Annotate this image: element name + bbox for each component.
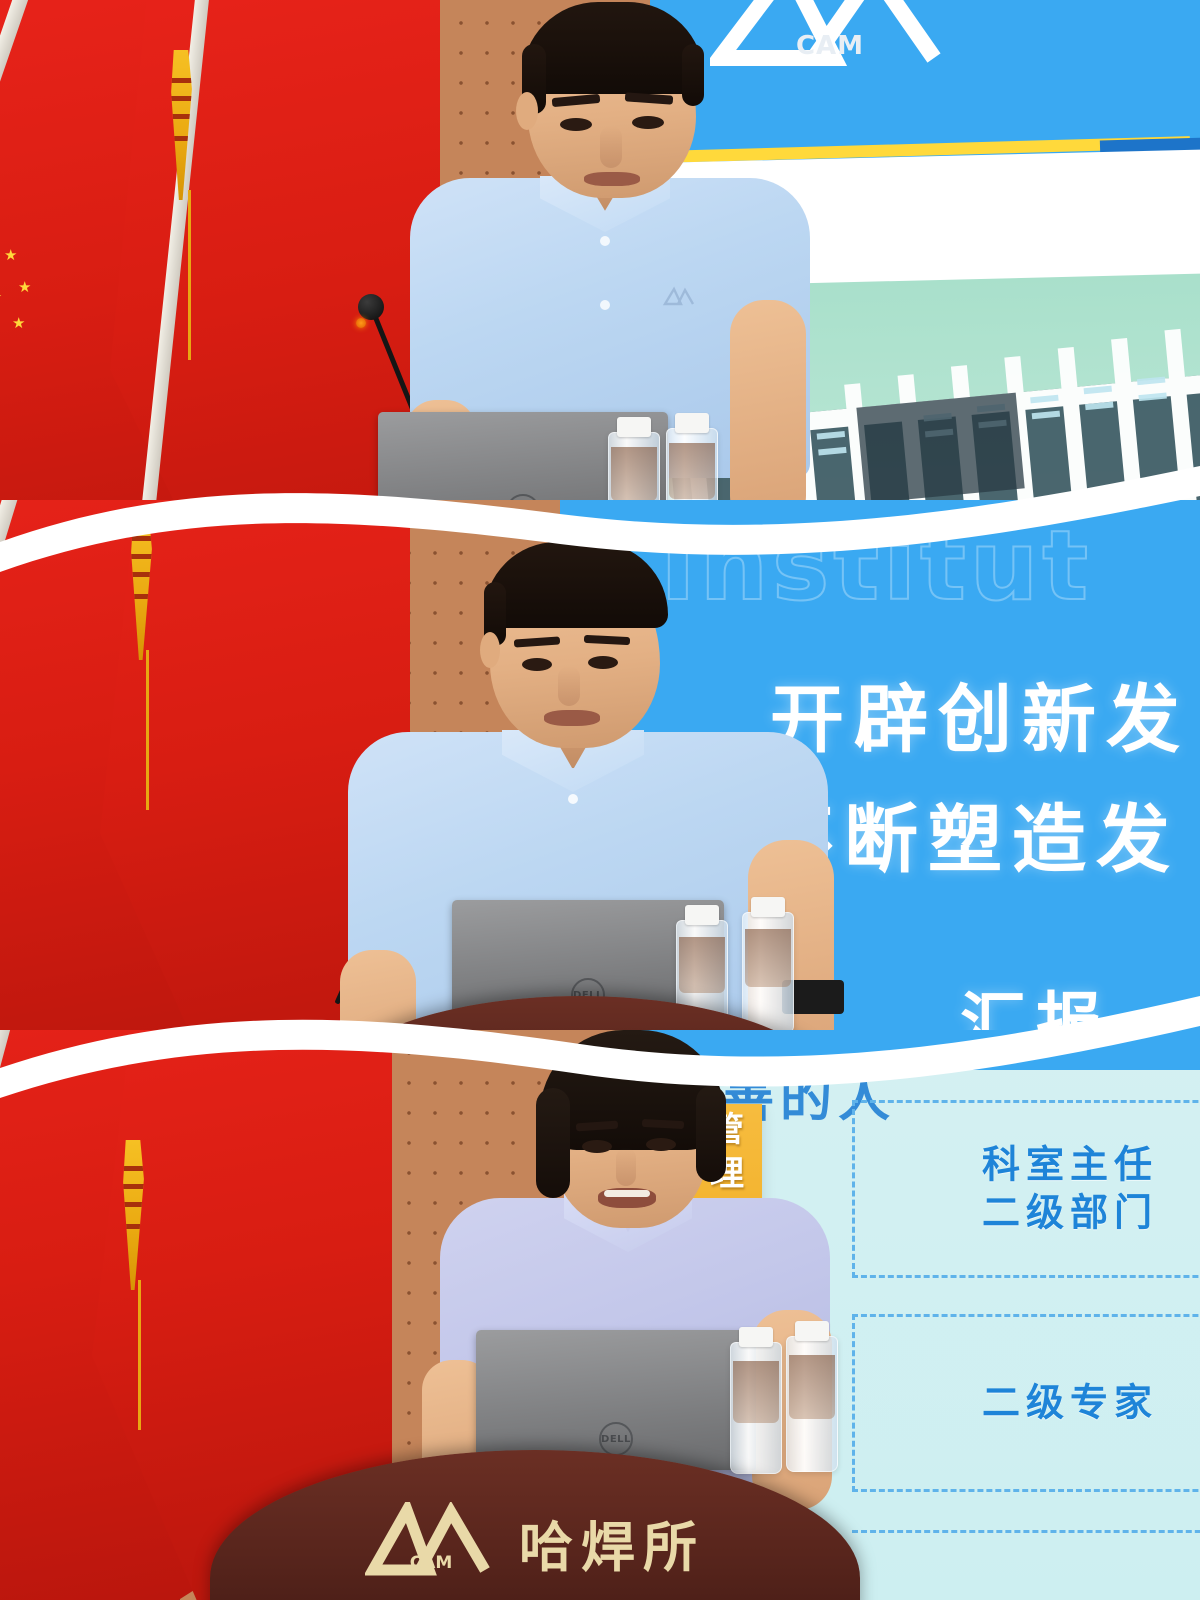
- tassel-cord: [188, 190, 191, 360]
- role-box-3-top-edge: [852, 1530, 1200, 1533]
- role-box-1: 科室主任 二级部门: [852, 1100, 1200, 1278]
- nose-3: [616, 1148, 636, 1186]
- nose-1: [600, 126, 622, 168]
- photo-collage: ★ ★ ★ ★ CAM: [0, 0, 1200, 1600]
- shirt-button-2: [600, 300, 610, 310]
- podium-brand: CAM 哈焊所: [210, 1502, 860, 1582]
- panel-middle: Institut 开辟创新发 不断塑造发 汇报: [0, 500, 1200, 1080]
- mouth-1: [584, 172, 640, 186]
- ear-left-2: [480, 632, 500, 668]
- water-bottle-3b: [786, 1336, 838, 1472]
- sideburn-right-1: [682, 44, 704, 106]
- eye-right-2: [588, 656, 618, 669]
- tassel-cord-2: [146, 650, 149, 810]
- podium-label: 哈焊所: [519, 1503, 705, 1582]
- panel-top: ★ ★ ★ ★ CAM: [0, 0, 1200, 540]
- tassel-cord-3: [138, 1280, 141, 1430]
- eye-right-1: [632, 116, 664, 129]
- shirt-button-2a: [568, 794, 578, 804]
- podium-cam-logo-icon: CAM: [365, 1502, 495, 1582]
- eye-left-3: [582, 1140, 612, 1153]
- role-box-2-line-1: 二级专家: [982, 1380, 1158, 1424]
- hair-1: [522, 2, 704, 94]
- eye-left-2: [522, 658, 552, 671]
- hair-side-left-3: [536, 1088, 570, 1198]
- hair-side-right-3: [696, 1086, 726, 1182]
- ear-left-1: [516, 92, 538, 130]
- shirt-logo-icon: [662, 286, 696, 306]
- water-bottle-3a: [730, 1342, 782, 1474]
- eye-left-1: [560, 118, 592, 131]
- water-bottle-2b: [742, 912, 794, 1034]
- role-box-2: 二级专家: [852, 1314, 1200, 1492]
- mouth-2: [544, 710, 600, 726]
- shirt-button-1: [600, 236, 610, 246]
- eye-right-3: [646, 1138, 676, 1151]
- svg-text:CAM: CAM: [410, 1553, 453, 1573]
- role-box-1-line-2: 二级部门: [982, 1190, 1158, 1234]
- arm-right-1: [730, 300, 806, 530]
- dell-logo-icon-3: DELL: [599, 1422, 633, 1456]
- mouth-3: [598, 1188, 656, 1208]
- laptop-3: DELL: [476, 1330, 756, 1470]
- nose-2: [558, 666, 580, 706]
- hair-2: [484, 542, 668, 628]
- role-box-1-line-1: 科室主任: [982, 1143, 1158, 1187]
- panel-bottom: 完善的人 管理序列 科室主任 二级部门 二级专家: [0, 1030, 1200, 1600]
